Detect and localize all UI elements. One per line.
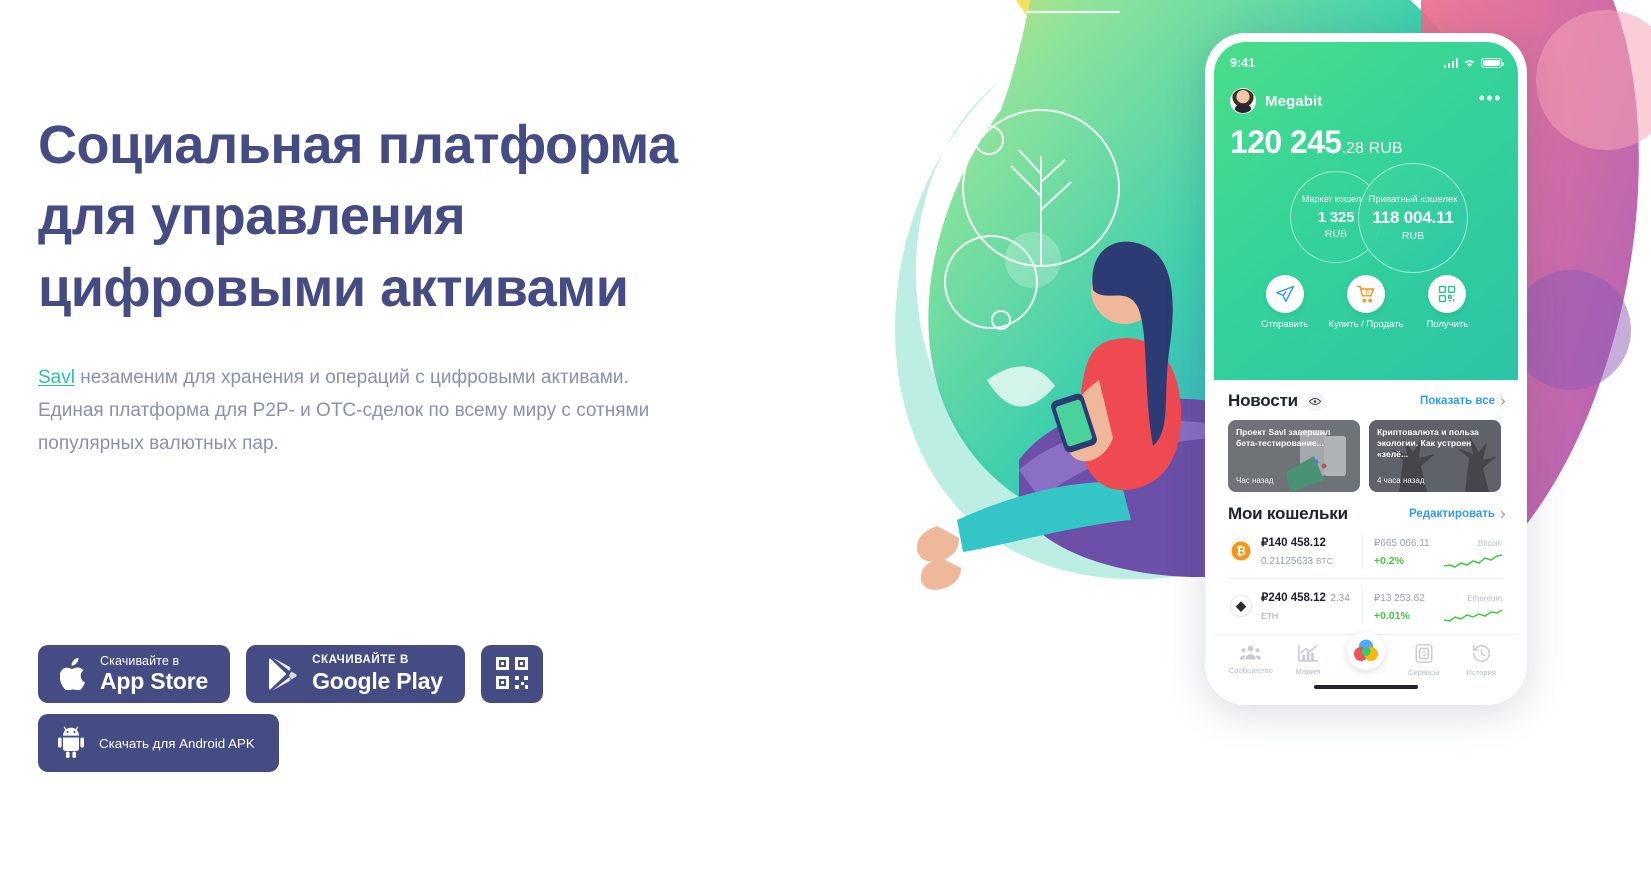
- private-wallet-amount: 118 004.11: [1372, 208, 1453, 228]
- bitcoin-holdings: 0.21125633 BTC: [1261, 556, 1333, 567]
- community-icon: [1240, 644, 1261, 661]
- news-card[interactable]: Криптовалюта и польза экологии. Как устр…: [1369, 420, 1501, 492]
- wallet-row-ethereum[interactable]: ◆ ₽240 458.12 2.34 ETH ₽13 253.62 +0.01%…: [1228, 579, 1504, 633]
- battery-icon: [1481, 58, 1502, 69]
- qr-scan-icon: [1428, 275, 1466, 313]
- history-icon: [1472, 644, 1491, 663]
- private-wallet-title: Приватный кошелек: [1369, 194, 1458, 206]
- tab-community[interactable]: Сообщество: [1222, 644, 1280, 675]
- qr-code-button[interactable]: [481, 645, 543, 703]
- bitcoin-network: Bitcoin: [1478, 539, 1502, 548]
- svg-text:₿: ₿: [1365, 289, 1369, 296]
- android-icon: [56, 726, 86, 761]
- receive-action[interactable]: Получить: [1407, 275, 1488, 330]
- ethereum-amount: ₽240 458.12: [1261, 592, 1326, 604]
- receive-label: Получить: [1426, 319, 1468, 330]
- bitcoin-sparkline: [1444, 553, 1502, 569]
- tab-services[interactable]: $ Сервисы: [1395, 644, 1453, 677]
- send-action[interactable]: Отправить: [1244, 275, 1325, 330]
- bitcoin-unit: BTC: [1316, 556, 1333, 566]
- cart-icon: ₿: [1347, 275, 1385, 313]
- news-carousel[interactable]: Проект Savl завершил бета-тестирование..…: [1228, 420, 1504, 492]
- my-wallets-section: Мои кошельки Редактировать ₿ ₽140 458.12…: [1228, 504, 1504, 633]
- chevron-right-icon: [1498, 397, 1505, 404]
- google-play-button[interactable]: СКАЧИВАЙТЕ В Google Play: [246, 645, 465, 703]
- quick-actions: Отправить ₿ Купить / Продать Получить: [1230, 271, 1502, 330]
- tab-home[interactable]: [1337, 644, 1395, 675]
- page-title: Социальная платформа для управления цифр…: [38, 110, 698, 324]
- qr-code-icon: [495, 656, 529, 693]
- wallet-body: Новости Показать все Про: [1214, 380, 1518, 696]
- google-play-caption: СКАЧИВАЙТЕ В: [312, 655, 443, 667]
- status-bar: 9:41: [1230, 56, 1502, 70]
- news-show-all-label: Показать все: [1420, 395, 1495, 407]
- bottom-tab-bar: Сообщество Маркет: [1214, 634, 1518, 696]
- tab-market[interactable]: Маркет: [1280, 644, 1338, 676]
- balance-integer: 120 245: [1230, 124, 1341, 161]
- signal-icon: [1444, 58, 1459, 68]
- news-card-age: 4 часа назад: [1377, 476, 1493, 485]
- google-play-label: Google Play: [312, 670, 443, 693]
- send-label: Отправить: [1261, 319, 1308, 330]
- hero-description-text: незаменим для хранения и операций с цифр…: [38, 367, 649, 454]
- hero-description: Savl незаменим для хранения и операций с…: [38, 362, 658, 461]
- news-card[interactable]: Проект Savl завершил бета-тестирование..…: [1228, 420, 1360, 492]
- bitcoin-price: ₽665 066.11: [1374, 538, 1430, 549]
- android-apk-button[interactable]: Скачать для Android APK: [38, 714, 279, 772]
- wallet-row-bitcoin[interactable]: ₿ ₽140 458.12 0.21125633 BTC ₽665 066.11…: [1228, 524, 1504, 579]
- chart-icon: [1298, 644, 1319, 662]
- private-wallet-circle[interactable]: Приватный кошелек 118 004.11 RUB: [1358, 163, 1468, 273]
- my-wallets-title: Мои кошельки: [1228, 504, 1348, 524]
- services-icon: $: [1415, 644, 1433, 663]
- hero-copy: Социальная платформа для управления цифр…: [38, 110, 698, 460]
- news-header: Новости Показать все: [1228, 391, 1504, 411]
- ethereum-price: ₽13 253.62: [1374, 593, 1425, 604]
- google-play-icon: [268, 657, 299, 691]
- apk-caption: Скачать для: [99, 736, 175, 751]
- chevron-right-icon: [1498, 510, 1505, 517]
- apk-label: Android APK: [179, 736, 255, 751]
- apk-download-row: Скачать для Android APK: [38, 714, 279, 772]
- private-wallet-currency: RUB: [1402, 230, 1424, 242]
- news-show-all-link[interactable]: Показать все: [1420, 395, 1504, 407]
- account-row[interactable]: Megabit •••: [1230, 88, 1502, 114]
- tab-community-label: Сообщество: [1229, 666, 1273, 675]
- buy-sell-action[interactable]: ₿ Купить / Продать: [1325, 275, 1406, 330]
- savl-link[interactable]: Savl: [38, 367, 75, 388]
- svg-text:$: $: [1422, 651, 1426, 658]
- download-buttons: Скачивайте в App Store СКАЧИВАЙТЕ В Goog…: [38, 645, 543, 703]
- edit-wallets-label: Редактировать: [1409, 508, 1495, 520]
- buy-sell-label: Купить / Продать: [1328, 319, 1403, 330]
- status-time: 9:41: [1230, 56, 1255, 70]
- wallet-circles: Маркет кошелек 1 325 RUB Приватный кошел…: [1230, 165, 1502, 271]
- phone-screen: 9:41 Megabit ••• 120 245 .28 RUB Маркет …: [1214, 42, 1518, 696]
- balance-decimal: .28 RUB: [1341, 140, 1402, 158]
- market-wallet-amount: 1 325: [1318, 209, 1355, 226]
- wifi-icon: [1463, 58, 1476, 68]
- news-title: Новости: [1228, 391, 1298, 411]
- app-store-caption: Скачивайте в: [100, 655, 208, 668]
- total-balance: 120 245 .28 RUB: [1230, 124, 1502, 161]
- ethereum-network: Ethereum: [1467, 594, 1502, 603]
- ethereum-sparkline: [1444, 608, 1502, 624]
- wallet-header: 9:41 Megabit ••• 120 245 .28 RUB Маркет …: [1214, 42, 1518, 380]
- tab-services-label: Сервисы: [1408, 668, 1439, 677]
- tab-market-label: Маркет: [1296, 667, 1322, 676]
- send-icon: [1266, 275, 1304, 313]
- news-card-title: Проект Savl завершил бета-тестирование..…: [1236, 427, 1352, 449]
- bitcoin-holdings-value: 0.21125633: [1261, 556, 1313, 567]
- ethereum-unit: ETH: [1261, 611, 1278, 621]
- tab-history[interactable]: История: [1452, 644, 1510, 677]
- news-card-title: Криптовалюта и польза экологии. Как устр…: [1377, 427, 1493, 459]
- app-store-button[interactable]: Скачивайте в App Store: [38, 645, 230, 703]
- ethereum-icon: ◆: [1230, 595, 1252, 617]
- home-indicator: [1314, 685, 1418, 689]
- apple-icon: [60, 658, 87, 690]
- account-name: Megabit: [1265, 93, 1322, 110]
- more-options-icon[interactable]: •••: [1479, 98, 1502, 104]
- bitcoin-amount: ₽140 458.12: [1261, 537, 1326, 549]
- ethereum-delta: +0.01%: [1374, 610, 1410, 622]
- ethereum-holdings-value: 2.34: [1330, 593, 1349, 604]
- news-card-age: Час назад: [1236, 476, 1352, 485]
- savl-logo-icon: [1347, 632, 1385, 670]
- market-wallet-currency: RUB: [1325, 228, 1347, 240]
- tab-history-label: История: [1466, 668, 1495, 677]
- bitcoin-delta: +0.2%: [1374, 555, 1404, 567]
- my-wallets-header: Мои кошельки Редактировать: [1228, 504, 1504, 524]
- avatar: [1230, 88, 1256, 114]
- eye-icon[interactable]: [1306, 392, 1325, 411]
- phone-mockup: 9:41 Megabit ••• 120 245 .28 RUB Маркет …: [1205, 33, 1527, 705]
- bitcoin-icon: ₿: [1230, 540, 1252, 562]
- edit-wallets-link[interactable]: Редактировать: [1409, 508, 1504, 520]
- app-store-label: App Store: [100, 670, 208, 693]
